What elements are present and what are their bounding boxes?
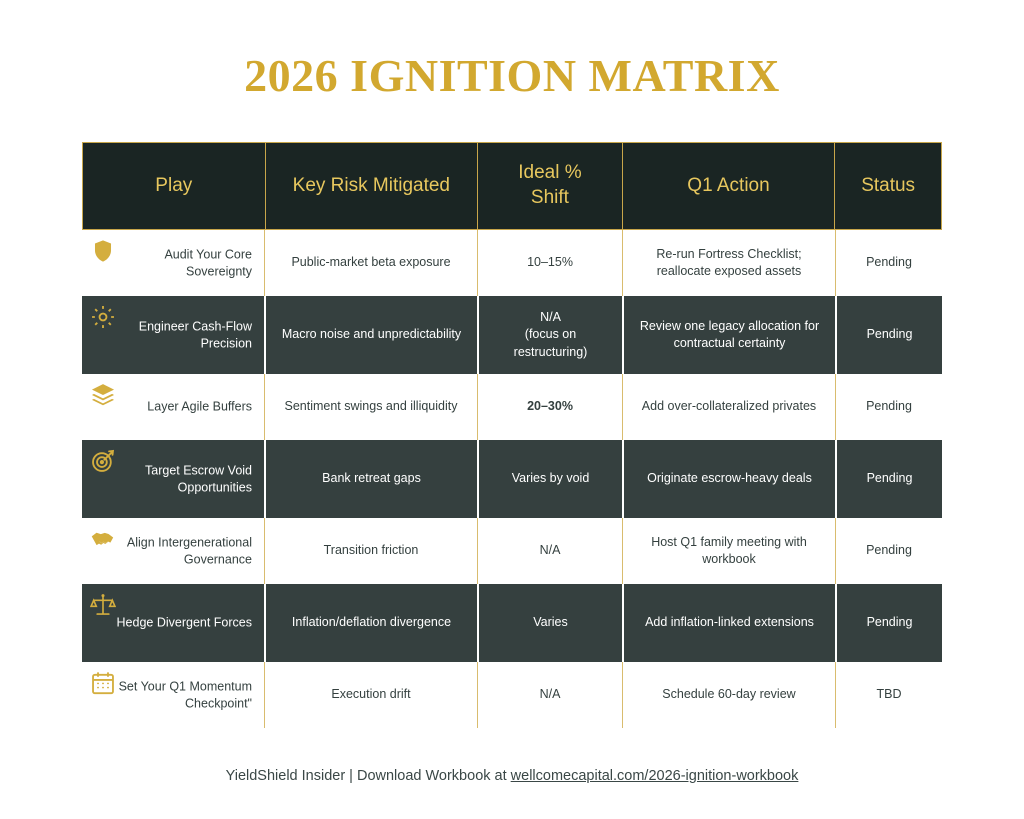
shift-value: 20–30% — [527, 398, 573, 415]
status-cell: TBD — [835, 662, 942, 728]
column-header-label: Status — [861, 174, 915, 199]
table-row: Target Escrow Void OpportunitiesBank ret… — [82, 440, 942, 518]
shift-value: Varies — [533, 614, 568, 631]
play-cell: Target Escrow Void Opportunities — [82, 440, 264, 518]
table-row: Hedge Divergent ForcesInflation/deflatio… — [82, 584, 942, 662]
action-label: Re-run Fortress Checklist; reallocate ex… — [633, 246, 825, 281]
shift-cell: N/A — [477, 662, 622, 728]
action-label: Schedule 60-day review — [662, 686, 795, 703]
play-cell: Hedge Divergent Forces — [82, 584, 264, 662]
action-label: Host Q1 family meeting with workbook — [633, 534, 825, 569]
risk-cell: Inflation/deflation divergence — [266, 584, 477, 662]
risk-cell: Transition friction — [264, 518, 477, 584]
column-header-1: Play — [83, 143, 265, 229]
action-label: Originate escrow-heavy deals — [647, 470, 812, 487]
risk-label: Sentiment swings and illiquidity — [284, 398, 457, 415]
column-header-label: Ideal %Shift — [518, 161, 581, 210]
risk-cell: Execution drift — [264, 662, 477, 728]
risk-cell: Bank retreat gaps — [266, 440, 477, 518]
status-cell: Pending — [837, 584, 942, 662]
footer: YieldShield Insider | Download Workbook … — [0, 768, 1024, 784]
play-label: Align Intergenerational Governance — [102, 534, 252, 569]
table-row: Align Intergenerational GovernanceTransi… — [82, 518, 942, 584]
action-cell: Host Q1 family meeting with workbook — [622, 518, 835, 584]
action-cell: Review one legacy allocation for contrac… — [624, 296, 835, 374]
column-header-label: Play — [155, 174, 192, 199]
play-cell: Align Intergenerational Governance — [82, 518, 264, 584]
table-header-row: PlayKey Risk MitigatedIdeal %ShiftQ1 Act… — [82, 142, 942, 230]
shift-value: Varies by void — [512, 470, 590, 487]
status-cell: Pending — [835, 518, 942, 584]
shift-cell: 10–15% — [477, 230, 622, 296]
play-label: Target Escrow Void Opportunities — [102, 462, 252, 497]
shift-cell: N/A — [477, 518, 622, 584]
action-cell: Originate escrow-heavy deals — [624, 440, 835, 518]
footer-prefix: YieldShield Insider | Download Workbook … — [226, 768, 511, 784]
status-cell: Pending — [835, 374, 942, 440]
action-cell: Schedule 60-day review — [622, 662, 835, 728]
risk-label: Execution drift — [331, 686, 410, 703]
action-label: Add over-collateralized privates — [642, 398, 816, 415]
shift-cell: Varies — [479, 584, 622, 662]
status-cell: Pending — [837, 296, 942, 374]
shift-value: N/A — [540, 542, 561, 559]
risk-cell: Macro noise and unpredictability — [266, 296, 477, 374]
play-label: Set Your Q1 Momentum Checkpoint" — [102, 678, 252, 713]
play-cell: Audit Your Core Sovereignty — [82, 230, 264, 296]
status-cell: Pending — [835, 230, 942, 296]
action-cell: Re-run Fortress Checklist; reallocate ex… — [622, 230, 835, 296]
status-badge: TBD — [877, 686, 902, 703]
status-cell: Pending — [837, 440, 942, 518]
shift-value: N/A(focus on restructuring) — [489, 309, 612, 361]
action-label: Review one legacy allocation for contrac… — [634, 318, 825, 353]
risk-label: Transition friction — [324, 542, 419, 559]
table-row: Audit Your Core SovereigntyPublic-market… — [82, 230, 942, 296]
play-cell: Engineer Cash-Flow Precision — [82, 296, 264, 374]
status-badge: Pending — [866, 542, 912, 559]
ignition-matrix-table: PlayKey Risk MitigatedIdeal %ShiftQ1 Act… — [82, 142, 942, 728]
page-title: 2026 IGNITION MATRIX — [0, 50, 1024, 103]
status-badge: Pending — [866, 398, 912, 415]
ignition-matrix-page: 2026 IGNITION MATRIX PlayKey Risk Mitiga… — [0, 0, 1024, 819]
workbook-link[interactable]: wellcomecapital.com/2026-ignition-workbo… — [511, 768, 799, 784]
column-header-label: Key Risk Mitigated — [293, 174, 450, 199]
shift-cell: Varies by void — [479, 440, 622, 518]
risk-label: Public-market beta exposure — [291, 254, 450, 271]
table-row: Layer Agile BuffersSentiment swings and … — [82, 374, 942, 440]
shift-cell: 20–30% — [477, 374, 622, 440]
play-cell: Layer Agile Buffers — [82, 374, 264, 440]
status-badge: Pending — [867, 470, 913, 487]
status-badge: Pending — [866, 254, 912, 271]
action-cell: Add inflation-linked extensions — [624, 584, 835, 662]
play-label: Layer Agile Buffers — [102, 398, 252, 415]
risk-cell: Public-market beta exposure — [264, 230, 477, 296]
play-label: Hedge Divergent Forces — [102, 614, 252, 631]
column-header-5: Status — [834, 143, 941, 229]
risk-label: Bank retreat gaps — [322, 470, 421, 487]
table-row: Engineer Cash-Flow PrecisionMacro noise … — [82, 296, 942, 374]
risk-cell: Sentiment swings and illiquidity — [264, 374, 477, 440]
action-label: Add inflation-linked extensions — [645, 614, 814, 631]
status-badge: Pending — [867, 614, 913, 631]
shift-value: 10–15% — [527, 254, 573, 271]
play-label: Engineer Cash-Flow Precision — [102, 318, 252, 353]
shift-cell: N/A(focus on restructuring) — [479, 296, 622, 374]
column-header-2: Key Risk Mitigated — [265, 143, 478, 229]
status-badge: Pending — [867, 326, 913, 343]
play-label: Audit Your Core Sovereignty — [102, 246, 252, 281]
play-cell: Set Your Q1 Momentum Checkpoint" — [82, 662, 264, 728]
shift-value: N/A — [540, 686, 561, 703]
column-header-4: Q1 Action — [622, 143, 835, 229]
table-row: Set Your Q1 Momentum Checkpoint"Executio… — [82, 662, 942, 728]
column-header-label: Q1 Action — [687, 174, 769, 199]
action-cell: Add over-collateralized privates — [622, 374, 835, 440]
risk-label: Inflation/deflation divergence — [292, 614, 451, 631]
risk-label: Macro noise and unpredictability — [282, 326, 461, 343]
column-header-3: Ideal %Shift — [477, 143, 622, 229]
